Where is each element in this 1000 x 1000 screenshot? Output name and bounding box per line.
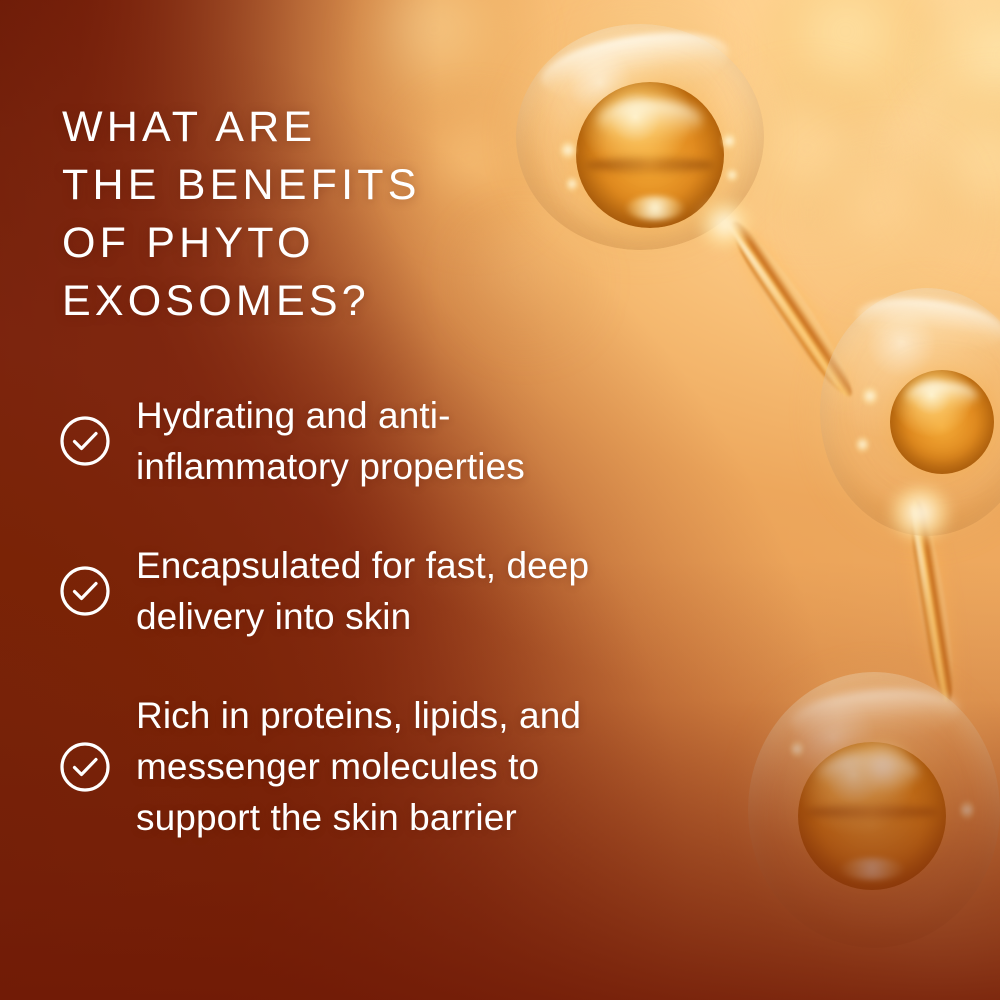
benefit-text: Rich in proteins, lipids, and messenger … — [136, 690, 581, 843]
promo-graphic: What are the benefits of phyto exosomes?… — [0, 0, 1000, 1000]
list-item: Rich in proteins, lipids, and messenger … — [58, 690, 738, 843]
page-title: What are the benefits of phyto exosomes? — [62, 98, 582, 330]
check-circle-icon — [58, 414, 112, 468]
list-item: Hydrating and anti- inflammatory propert… — [58, 390, 738, 492]
benefits-list: Hydrating and anti- inflammatory propert… — [58, 390, 738, 891]
list-item: Encapsulated for fast, deep delivery int… — [58, 540, 738, 642]
content-layer: What are the benefits of phyto exosomes?… — [0, 0, 1000, 1000]
benefit-text: Encapsulated for fast, deep delivery int… — [136, 540, 589, 642]
benefit-text: Hydrating and anti- inflammatory propert… — [136, 390, 525, 492]
check-circle-icon — [58, 740, 112, 794]
check-circle-icon — [58, 564, 112, 618]
